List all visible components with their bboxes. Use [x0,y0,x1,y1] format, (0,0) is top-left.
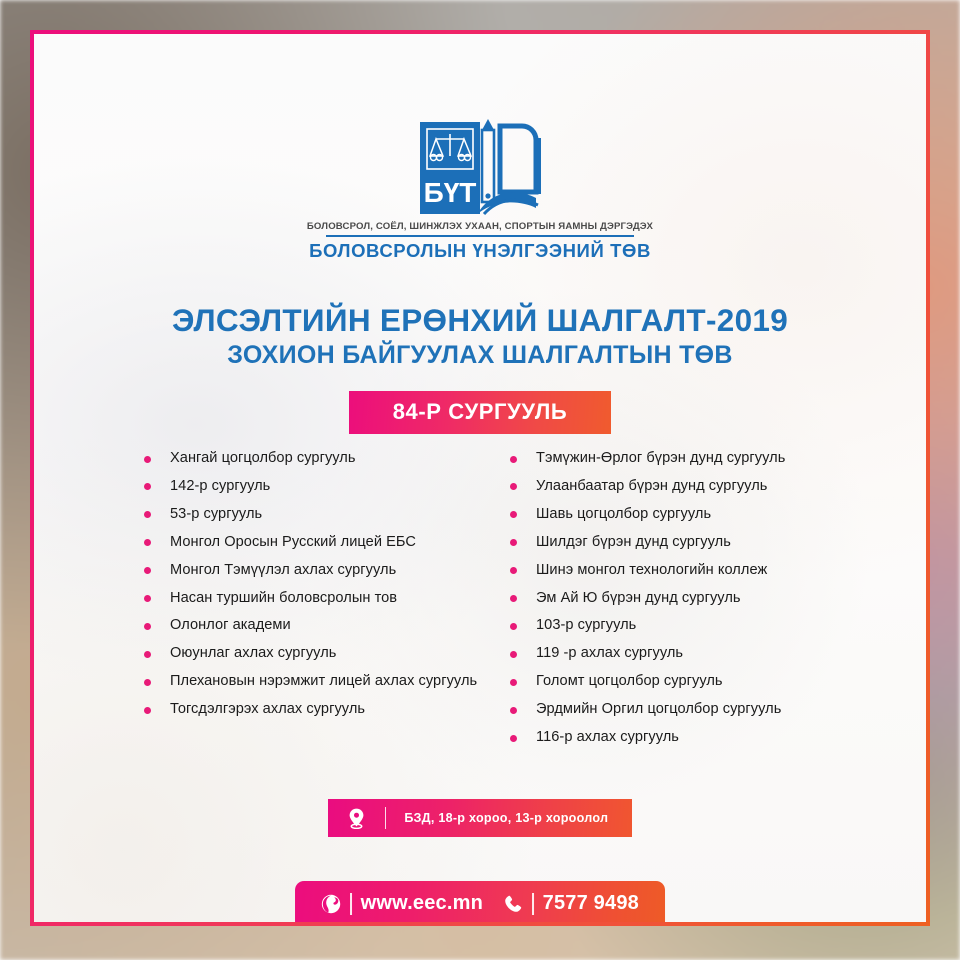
bullet-icon [510,483,517,490]
footer-phone[interactable]: 7577 9498 [543,892,639,915]
headline-line-1: ЭЛСЭЛТИЙН ЕРӨНХИЙ ШАЛГАЛТ-2019 [34,302,926,338]
school-name: Монгол Оросын Русский лицей ЕБС [170,533,416,552]
bullet-icon [510,651,517,658]
poster-headline: ЭЛСЭЛТИЙН ЕРӨНХИЙ ШАЛГАЛТ-2019 ЗОХИОН БА… [34,302,926,370]
school-name: Голомт цогцолбор сургууль [536,672,723,691]
school-name: Хангай цогцолбор сургууль [170,449,356,468]
svg-text:БҮТ: БҮТ [424,177,477,208]
school-list-right-column: Тэмүжин-Өрлог бүрэн дунд сургуульУлаанба… [510,449,850,756]
bullet-icon [144,623,151,630]
bullet-icon [510,623,517,630]
school-list-item: 116-р ахлах сургууль [510,728,850,747]
bullet-icon [510,567,517,574]
bullet-icon [144,456,151,463]
school-list-item: Плехановын нэрэмжит лицей ахлах сургууль [144,672,484,691]
but-emblem-icon: БҮТ [412,112,548,216]
footer-divider-2 [532,893,534,915]
school-badge-container: 84-Р СУРГУУЛЬ [34,391,926,434]
globe-icon [321,894,341,914]
school-list-item: Голомт цогцолбор сургууль [510,672,850,691]
logo-ministry-line: БОЛОВСРОЛ, СОЁЛ, ШИНЖЛЭХ УХААН, СПОРТЫН … [307,221,653,232]
school-name: Монгол Тэмүүлэл ахлах сургууль [170,561,396,580]
bullet-icon [510,511,517,518]
school-name: Эрдмийн Оргил цогцолбор сургууль [536,700,781,719]
school-list-item: Шавь цогцолбор сургууль [510,505,850,524]
bullet-icon [144,511,151,518]
school-list-item: Эм Ай Ю бүрэн дунд сургууль [510,589,850,608]
school-list-item: Шилдэг бүрэн дунд сургууль [510,533,850,552]
school-list-item: Монгол Оросын Русский лицей ЕБС [144,533,484,552]
school-list-item: Оюунлаг ахлах сургууль [144,644,484,663]
school-lists: Хангай цогцолбор сургууль142-р сургууль5… [144,449,886,756]
school-name: 103-р сургууль [536,616,636,635]
bullet-icon [510,679,517,686]
logo-organization-name: БОЛОВСРОЛЫН ҮНЭЛГЭЭНИЙ ТӨВ [309,240,651,262]
school-name: 119 -р ахлах сургууль [536,644,683,663]
bullet-icon [144,679,151,686]
footer-divider-1 [350,893,352,915]
school-list-item: Олонлог академи [144,616,484,635]
school-name: Тэмүжин-Өрлог бүрэн дунд сургууль [536,449,785,468]
school-name: Шинэ монгол технологийн коллеж [536,561,767,580]
school-name: Оюунлаг ахлах сургууль [170,644,336,663]
school-list-item: Улаанбаатар бүрэн дунд сургууль [510,477,850,496]
bullet-icon [510,595,517,602]
school-name: 142-р сургууль [170,477,270,496]
map-pin-icon [348,808,365,829]
address-pill: БЗД, 18-р хороо, 13-р хороолол [328,799,632,837]
school-name: 53-р сургууль [170,505,262,524]
poster-card: БҮТ БОЛОВСРОЛ, СОЁЛ, ШИНЖЛЭХ УХААН, СПОР… [34,34,926,922]
school-list-item: Эрдмийн Оргил цогцолбор сургууль [510,700,850,719]
bullet-icon [510,539,517,546]
bullet-icon [144,539,151,546]
address-divider [385,807,387,829]
school-name: Плехановын нэрэмжит лицей ахлах сургууль [170,672,477,691]
school-name: Улаанбаатар бүрэн дунд сургууль [536,477,767,496]
poster-gradient-border: БҮТ БОЛОВСРОЛ, СОЁЛ, ШИНЖЛЭХ УХААН, СПОР… [30,30,930,926]
address-container: БЗД, 18-р хороо, 13-р хороолол [34,799,926,837]
school-list-item: 53-р сургууль [144,505,484,524]
bullet-icon [144,707,151,714]
logo-divider-rule [326,235,634,237]
school-list-item: Монгол Тэмүүлэл ахлах сургууль [144,561,484,580]
headline-line-2: ЗОХИОН БАЙГУУЛАХ ШАЛГАЛТЫН ТӨВ [34,340,926,370]
school-list-item: 103-р сургууль [510,616,850,635]
school-name: Тогсдэлгэрэх ахлах сургууль [170,700,365,719]
bullet-icon [510,456,517,463]
bullet-icon [144,595,151,602]
school-name: Насан туршийн боловсролын тов [170,589,397,608]
footer-contact-bar: www.eec.mn 7577 9498 [295,881,665,922]
phone-icon [503,894,523,914]
school-list-item: 142-р сургууль [144,477,484,496]
school-list-item: Шинэ монгол технологийн коллеж [510,561,850,580]
school-list-item: 119 -р ахлах сургууль [510,644,850,663]
school-list-item: Тогсдэлгэрэх ахлах сургууль [144,700,484,719]
footer-website[interactable]: www.eec.mn [361,892,483,915]
bullet-icon [144,567,151,574]
school-list-item: Тэмүжин-Өрлог бүрэн дунд сургууль [510,449,850,468]
school-name: Эм Ай Ю бүрэн дунд сургууль [536,589,741,608]
school-list-left-column: Хангай цогцолбор сургууль142-р сургууль5… [144,449,484,756]
bullet-icon [510,735,517,742]
school-name: Шилдэг бүрэн дунд сургууль [536,533,731,552]
school-name: 116-р ахлах сургууль [536,728,679,747]
bullet-icon [144,483,151,490]
organization-logo: БҮТ БОЛОВСРОЛ, СОЁЛ, ШИНЖЛЭХ УХААН, СПОР… [34,112,926,262]
school-name: Шавь цогцолбор сургууль [536,505,711,524]
school-number-badge: 84-Р СУРГУУЛЬ [349,391,612,434]
bullet-icon [144,651,151,658]
address-text: БЗД, 18-р хороо, 13-р хороолол [404,811,608,825]
bullet-icon [510,707,517,714]
school-list-item: Насан туршийн боловсролын тов [144,589,484,608]
school-name: Олонлог академи [170,616,291,635]
school-list-item: Хангай цогцолбор сургууль [144,449,484,468]
